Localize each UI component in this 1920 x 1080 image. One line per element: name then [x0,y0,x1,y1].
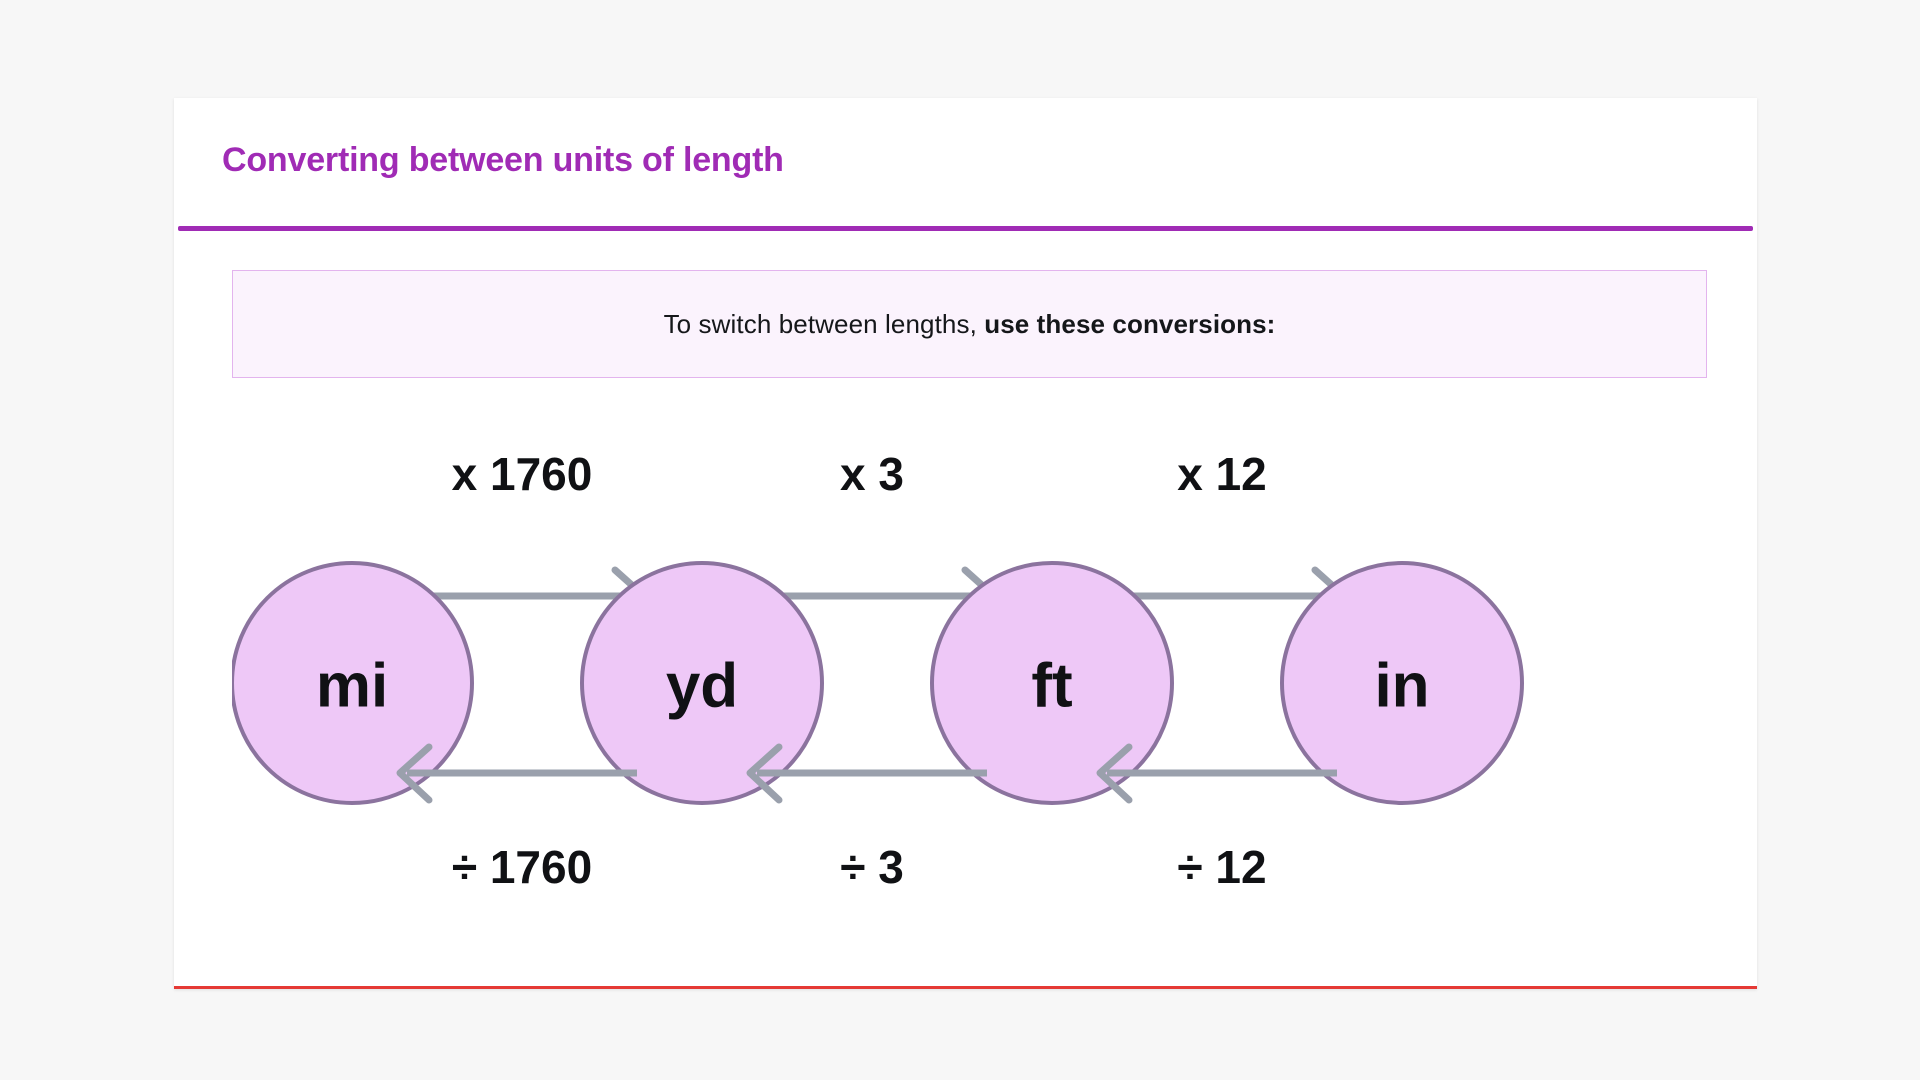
forward-arrow-group-0: x 1760 [407,448,644,623]
unit-node-ft[interactable]: ft [932,563,1172,803]
unit-node-mi[interactable]: mi [232,563,472,803]
multiply-label-2: x 12 [1177,448,1267,500]
forward-arrow-group-2: x 12 [1107,448,1344,623]
unit-label-mi: mi [316,652,388,721]
multiply-label-1: x 3 [840,448,904,500]
forward-arrow-group-1: x 3 [757,448,994,623]
conversion-callout: To switch between lengths, use these con… [232,270,1707,378]
page-root: Converting between units of length To sw… [0,0,1920,1080]
diagram-canvas: x 1760 x 3 x 12 mi [232,418,1707,948]
unit-label-in: in [1374,652,1429,721]
page-title: Converting between units of length [222,142,1757,179]
unit-node-in[interactable]: in [1282,563,1522,803]
callout-text-plain: To switch between lengths, [664,309,977,339]
callout-text: To switch between lengths, use these con… [664,309,1276,340]
callout-text-bold: use these conversions: [984,309,1275,339]
multiply-label-0: x 1760 [452,448,593,500]
unit-node-yd[interactable]: yd [582,563,822,803]
divide-label-1: ÷ 3 [840,841,904,893]
title-divider [178,226,1753,231]
unit-label-yd: yd [666,652,738,721]
divide-label-2: ÷ 12 [1177,841,1266,893]
card-header: Converting between units of length [174,98,1757,230]
unit-label-ft: ft [1031,652,1072,721]
lesson-card: Converting between units of length To sw… [174,98,1757,989]
divide-label-0: ÷ 1760 [452,841,592,893]
unit-conversion-diagram: x 1760 x 3 x 12 mi [232,418,1707,948]
